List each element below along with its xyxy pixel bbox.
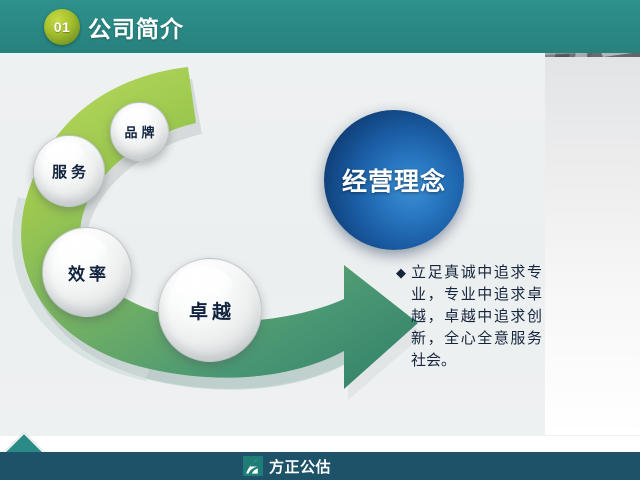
node-sphere-efficiency[interactable]: 效率 — [42, 227, 132, 317]
fangzheng-logo-icon — [243, 456, 263, 476]
section-number-label: 01 — [44, 9, 80, 45]
slide-canvas: 品牌 服务 效率 卓越 经营理念 ◆ 立足真诚中追求专业，专业中追求卓越，卓越中… — [0, 0, 640, 480]
page-title: 公司简介 — [88, 9, 184, 45]
concept-bullet-text: 立足真诚中追求专业，专业中追求卓越，卓越中追求创新，全心全意服务社会。 — [411, 262, 542, 372]
slide-header: 01 公司简介 — [0, 0, 640, 53]
node-label-service: 服务 — [48, 161, 90, 182]
node-label-brand: 品牌 — [120, 122, 158, 141]
node-sphere-service[interactable]: 服务 — [33, 135, 105, 207]
diamond-bullet-icon: ◆ — [396, 262, 406, 284]
concept-bullet-item: ◆ 立足真诚中追求专业，专业中追求卓越，卓越中追求创新，全心全意服务社会。 — [396, 262, 542, 372]
concept-sphere[interactable]: 经营理念 — [324, 110, 464, 250]
footer-brand: 方正公估 — [243, 452, 331, 480]
node-sphere-excellence[interactable]: 卓越 — [158, 258, 262, 362]
footer-brand-name: 方正公估 — [269, 456, 331, 477]
section-number-badge: 01 — [44, 9, 80, 45]
node-sphere-brand[interactable]: 品牌 — [110, 102, 169, 161]
concept-label: 经营理念 — [342, 162, 446, 198]
node-label-efficiency: 效率 — [64, 260, 110, 285]
node-label-excellence: 卓越 — [185, 297, 235, 324]
right-gradient-panel — [545, 57, 640, 435]
